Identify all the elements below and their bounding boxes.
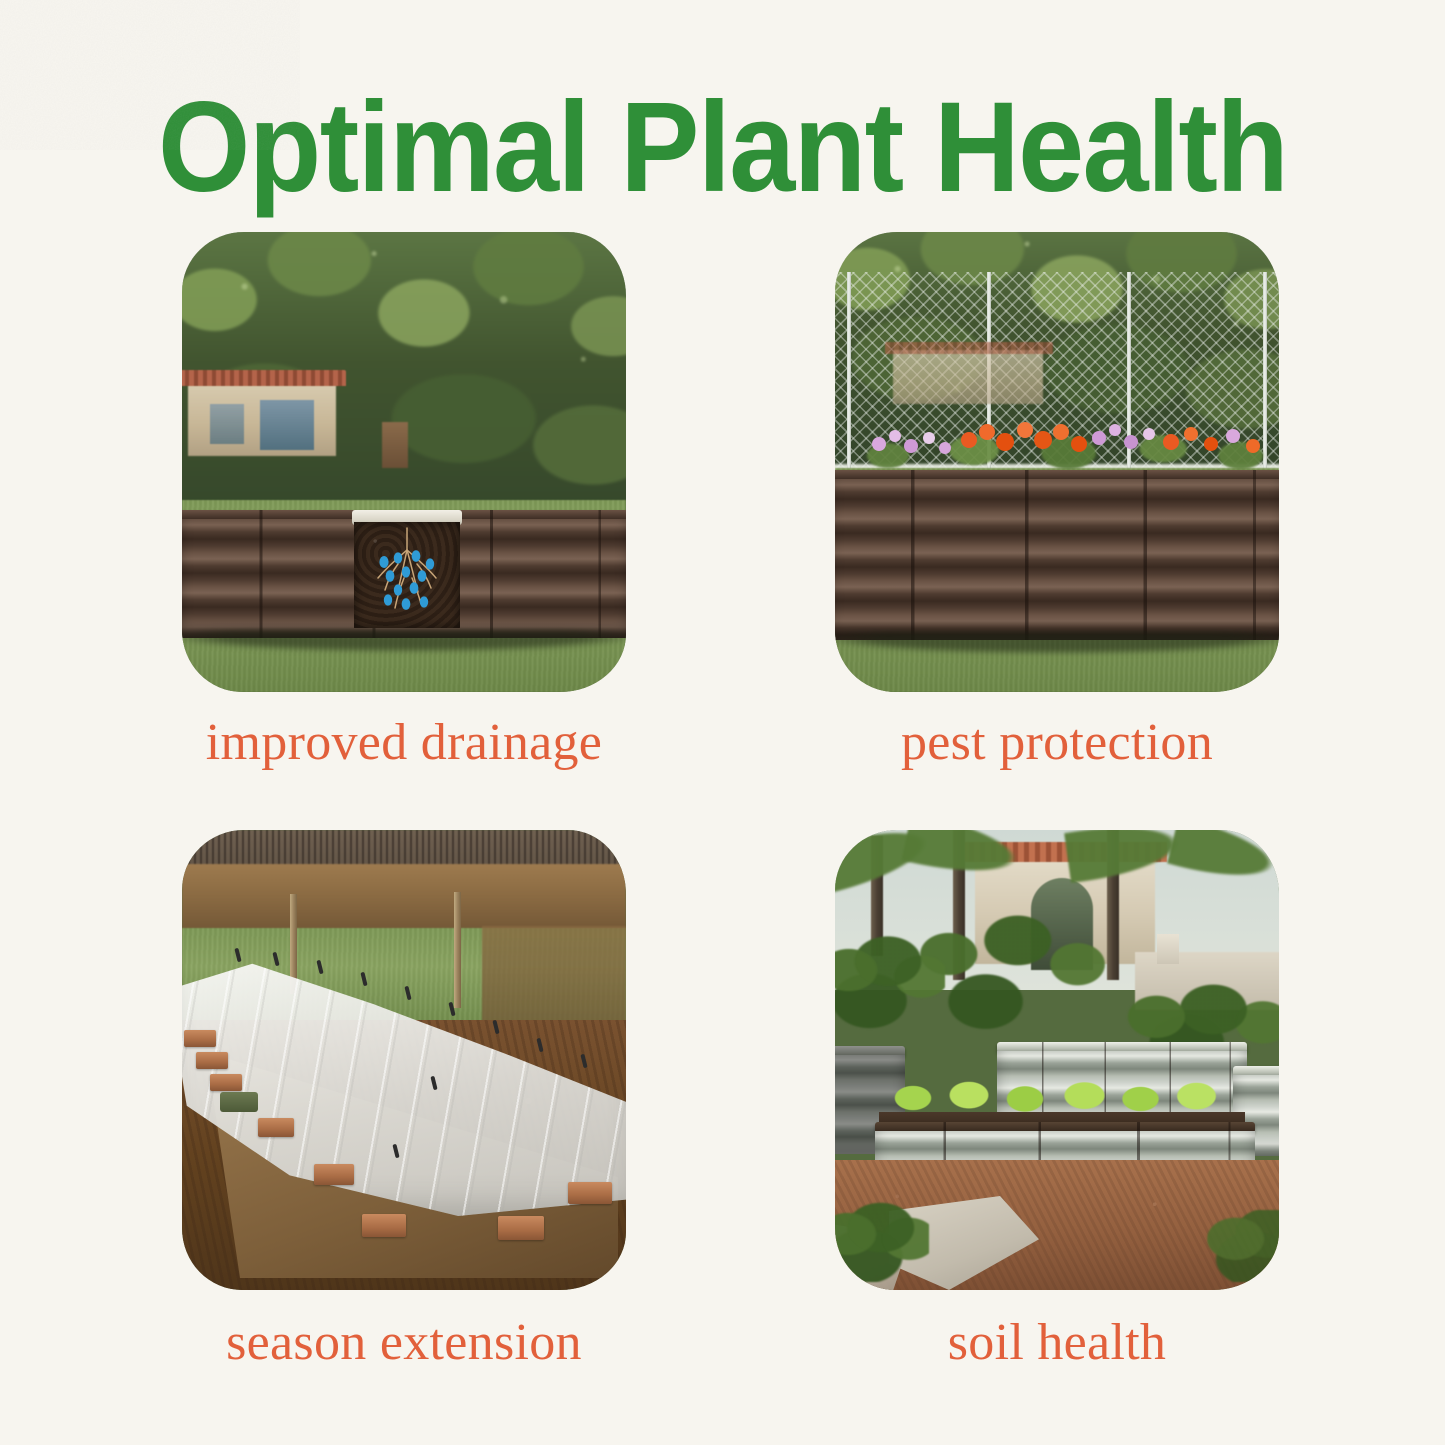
scene-soil-health — [835, 830, 1279, 1290]
wall-pillar — [1157, 934, 1179, 964]
root-system-illustration — [354, 520, 460, 630]
house-window-2 — [210, 404, 244, 444]
flower-blooms — [845, 408, 1275, 476]
weight-brick — [210, 1074, 242, 1091]
benefit-photo-season-extension — [182, 830, 626, 1290]
benefit-photo-pest-protection — [835, 232, 1279, 692]
flower-planting — [845, 408, 1275, 476]
benefit-card-pest-protection: pest protection — [835, 232, 1279, 771]
weight-brick — [184, 1030, 216, 1047]
benefit-photo-improved-drainage — [182, 232, 626, 692]
benefit-card-season-extension: season extension — [182, 830, 626, 1371]
background-building-roof — [885, 342, 1053, 354]
bed-ground-shadow — [835, 632, 1279, 654]
weight-brick — [362, 1214, 406, 1237]
benefit-card-improved-drainage: improved drainage — [182, 232, 626, 771]
benefit-caption-pest-protection: pest protection — [835, 716, 1279, 771]
fence-post-wood — [382, 422, 408, 468]
benefit-photo-soil-health — [835, 830, 1279, 1290]
benefits-grid: improved drainage — [182, 232, 1290, 1290]
weight-brick — [568, 1182, 612, 1204]
scene-pest-protection — [835, 232, 1279, 692]
bed-seams — [835, 470, 1279, 640]
weight-brick — [314, 1164, 354, 1185]
foreground-plant-right — [1207, 1210, 1279, 1282]
house-roof — [182, 370, 346, 386]
benefit-caption-season-extension: season extension — [182, 1316, 626, 1371]
background-building — [893, 350, 1043, 404]
bed-ground-shadow — [182, 630, 626, 652]
scene-season-extension — [182, 830, 626, 1290]
raised-bed-brown — [835, 470, 1279, 640]
benefit-caption-soil-health: soil health — [835, 1316, 1279, 1371]
weight-brick — [196, 1052, 228, 1069]
scene-drainage — [182, 232, 626, 692]
benefit-card-soil-health: soil health — [835, 830, 1279, 1371]
foreground-plant — [835, 1202, 929, 1282]
weight-brick — [258, 1118, 294, 1137]
fence-stake — [454, 892, 461, 1008]
infographic-page: Optimal Plant Health — [0, 0, 1445, 1445]
side-foliage — [835, 926, 945, 1036]
page-title: Optimal Plant Health — [158, 84, 1287, 212]
house-window — [260, 400, 314, 450]
page-header: Optimal Plant Health — [0, 84, 1445, 196]
weight-brick — [498, 1216, 544, 1240]
green-block — [220, 1092, 258, 1112]
benefit-caption-improved-drainage: improved drainage — [182, 716, 626, 771]
